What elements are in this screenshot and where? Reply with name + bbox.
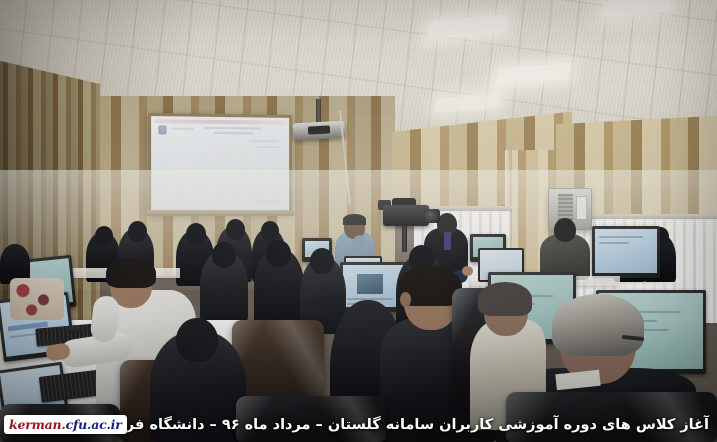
projection-screen-surface xyxy=(151,116,289,212)
attendee-mid-2-head xyxy=(266,240,291,267)
watermark-part-one: kerman xyxy=(9,417,61,432)
attendee-mid-1-head xyxy=(212,242,236,268)
attendee-back-3-head xyxy=(186,223,206,245)
attendee-front-left-chador-head xyxy=(176,318,218,362)
floral-chair-cushion xyxy=(10,278,64,320)
attendee-back-5-head xyxy=(261,221,279,241)
air-conditioner-vent xyxy=(558,194,573,221)
projected-line-5 xyxy=(255,146,278,148)
camera-tripod-post xyxy=(402,226,407,252)
attendee-back-center-tie xyxy=(444,232,451,250)
monitor-back-3 xyxy=(592,226,660,278)
air-conditioner-panel xyxy=(576,196,587,220)
attendee-front-suit-ear xyxy=(400,292,411,307)
attendee-grey-suit-head xyxy=(554,218,576,242)
attendee-back-2-head xyxy=(128,221,147,242)
camera-lens xyxy=(424,209,440,223)
projected-line-1 xyxy=(204,127,261,129)
watermark-text: kerman.cfu.ac.ir xyxy=(9,417,122,432)
monitor-back-3-line-1 xyxy=(599,236,643,238)
projected-line-3 xyxy=(172,127,194,129)
attendee-right-light-shirt-hair xyxy=(478,282,532,316)
projected-line-4 xyxy=(250,140,279,142)
attendee-blue-shirt-hair xyxy=(343,214,366,225)
projected-header-bar xyxy=(155,119,285,125)
monitor-back-3-screen xyxy=(595,229,657,273)
monitor-front-left-2-line-2 xyxy=(9,333,37,338)
attendee-white-shirt-hair xyxy=(106,258,156,288)
attendee-back-4-head xyxy=(226,219,245,240)
monitor-mid-center-thumbnail xyxy=(357,274,383,294)
projection-screen xyxy=(148,113,292,215)
site-watermark[interactable]: kerman.cfu.ac.ir xyxy=(4,415,127,434)
projected-logo-icon xyxy=(158,125,166,134)
projected-line-2 xyxy=(214,132,253,134)
photo-canvas: آغاز کلاس های دوره آموزشی کاربران سامانه… xyxy=(0,0,717,442)
projector-lens xyxy=(308,125,330,134)
attendee-back-1-head xyxy=(95,226,113,246)
monitor-back-3-line-2 xyxy=(599,242,629,244)
video-camera xyxy=(383,205,429,226)
watermark-part-two: cfu.ac.ir xyxy=(66,417,122,432)
projected-line-6 xyxy=(255,200,280,202)
attendee-grey-hair-hair xyxy=(552,294,644,356)
projection-screen-bottom-rail xyxy=(148,210,294,216)
attendee-mid-3-head xyxy=(310,248,334,274)
mouse-front-left xyxy=(68,325,81,334)
caption-text: آغاز کلاس های دوره آموزشی کاربران سامانه… xyxy=(28,417,709,433)
attendee-laptop-user-hand xyxy=(462,266,473,276)
